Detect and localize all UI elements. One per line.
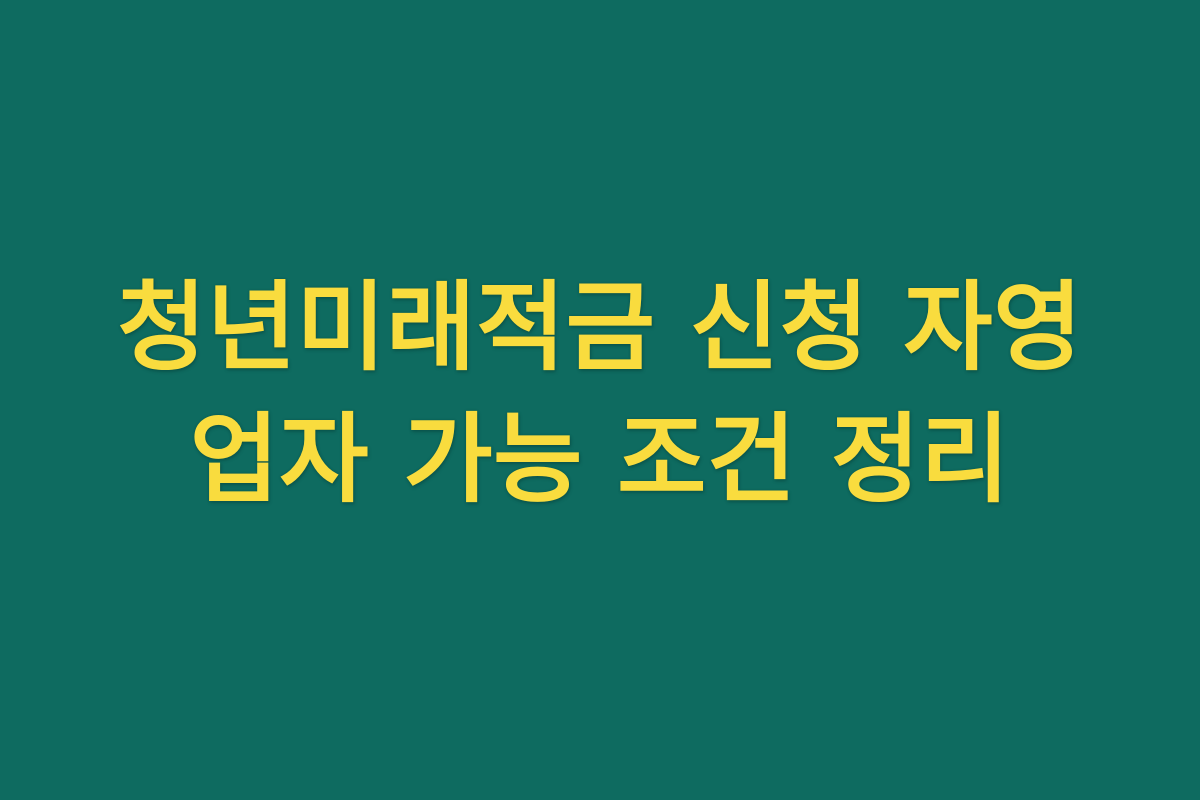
thumbnail-card: 청년미래적금 신청 자영 업자 가능 조건 정리 bbox=[0, 0, 1200, 800]
title-line-1: 청년미래적금 신청 자영 bbox=[70, 262, 1130, 394]
title-block: 청년미래적금 신청 자영 업자 가능 조건 정리 bbox=[70, 262, 1130, 526]
title-line-2: 업자 가능 조건 정리 bbox=[70, 394, 1130, 526]
